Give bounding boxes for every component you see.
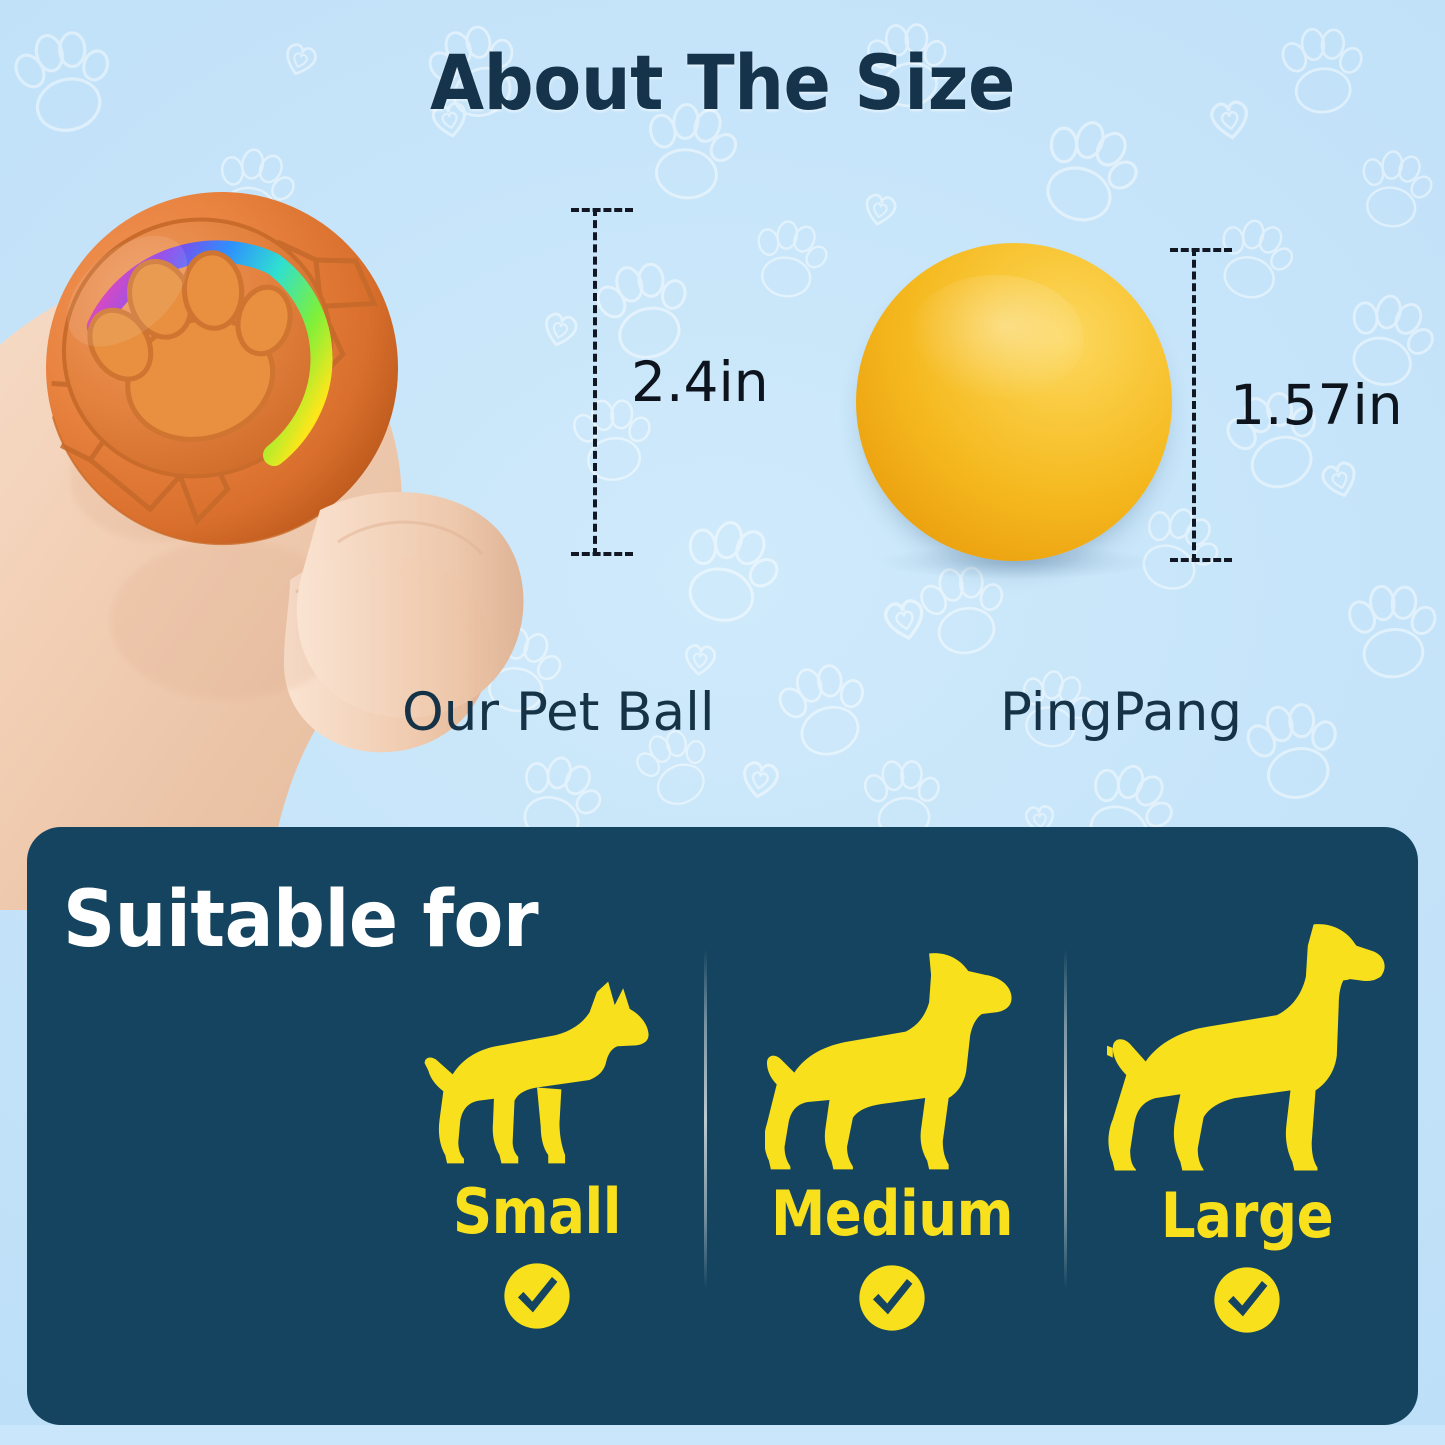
bottom-edge bbox=[0, 1425, 1445, 1445]
check-circle-icon bbox=[858, 1264, 926, 1332]
dog-large-icon bbox=[1107, 919, 1387, 1173]
size-column-large: Large bbox=[1082, 919, 1412, 1334]
dimension-cap-top bbox=[571, 208, 633, 212]
caption-pingpang: PingPang bbox=[1000, 682, 1242, 743]
page-title: About The Size bbox=[58, 38, 1387, 127]
dimension-label-pet-ball: 2.4in bbox=[631, 350, 769, 414]
dog-small-icon bbox=[424, 977, 650, 1169]
suitable-for-panel: Suitable for Small Medium bbox=[27, 827, 1418, 1425]
size-label-large: Large bbox=[1102, 1179, 1392, 1252]
infographic-page: About The Size bbox=[0, 0, 1445, 1445]
size-column-small: Small bbox=[372, 977, 702, 1330]
check-circle-icon bbox=[503, 1262, 571, 1330]
caption-our-pet-ball: Our Pet Ball bbox=[402, 682, 715, 743]
dimension-cap-bottom bbox=[1170, 558, 1232, 562]
size-label-small: Small bbox=[392, 1175, 682, 1248]
dimension-line bbox=[593, 208, 597, 556]
dog-medium-icon bbox=[765, 945, 1019, 1171]
dimension-label-pingpang: 1.57in bbox=[1230, 373, 1403, 437]
dimension-line bbox=[1192, 248, 1196, 562]
pingpang-ball bbox=[856, 243, 1172, 561]
suitable-for-heading: Suitable for bbox=[63, 875, 538, 965]
dimension-cap-top bbox=[1170, 248, 1232, 252]
check-circle-icon bbox=[1213, 1266, 1281, 1334]
dimension-cap-bottom bbox=[571, 552, 633, 556]
size-label-medium: Medium bbox=[747, 1177, 1037, 1250]
hand-holding-pet-ball-photo bbox=[0, 150, 590, 910]
column-divider bbox=[1064, 949, 1067, 1289]
size-column-medium: Medium bbox=[727, 945, 1057, 1332]
column-divider bbox=[704, 949, 707, 1289]
